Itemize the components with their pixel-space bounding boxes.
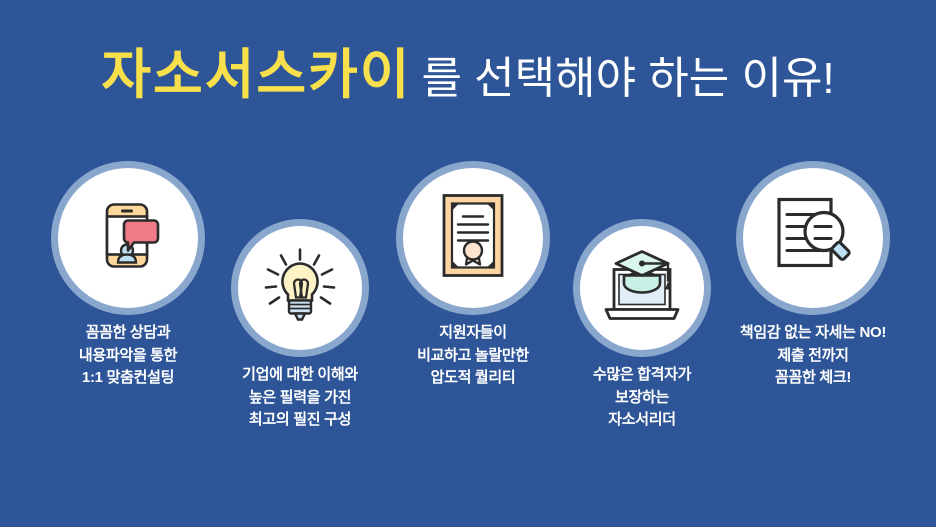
caption-line: 꼼꼼한 체크!	[723, 367, 903, 390]
feature-icon-bubble	[238, 226, 362, 350]
caption-line: 책임감 없는 자세는 NO!	[723, 322, 903, 345]
feature-item-results: 수많은 합격자가 보장하는 자소서리더	[557, 226, 727, 432]
caption-line: 자소서리더	[557, 409, 727, 432]
caption-line: 비교하고 놀랄만한	[388, 345, 558, 368]
caption-line: 내용파악을 통한	[43, 345, 213, 368]
page-title: 자소서스카이를 선택해야 하는 이유!	[0, 48, 936, 102]
feature-caption: 기업에 대한 이해와 높은 필력을 가진 최고의 필진 구성	[215, 364, 385, 432]
caption-line: 최고의 필진 구성	[215, 409, 385, 432]
feature-item-quality: 지원자들이 비교하고 놀랄만한 압도적 퀄리티	[388, 168, 558, 390]
feature-caption: 책임감 없는 자세는 NO! 제출 전까지 꼼꼼한 체크!	[723, 322, 903, 390]
caption-line: 압도적 퀄리티	[388, 367, 558, 390]
caption-line: 꼼꼼한 상담과	[43, 322, 213, 345]
smartphone-chat-icon	[85, 193, 171, 284]
feature-item-writers: 기업에 대한 이해와 높은 필력을 가진 최고의 필진 구성	[215, 226, 385, 432]
caption-line: 지원자들이	[388, 322, 558, 345]
feature-caption: 꼼꼼한 상담과 내용파악을 통한 1:1 맞춤컨설팅	[43, 322, 213, 390]
document-magnifier-icon	[769, 192, 857, 285]
caption-line: 제출 전까지	[723, 345, 903, 368]
caption-line: 보장하는	[557, 387, 727, 410]
feature-icon-bubble	[58, 168, 198, 308]
feature-item-check: 책임감 없는 자세는 NO! 제출 전까지 꼼꼼한 체크!	[723, 168, 903, 390]
promo-poster: 자소서스카이를 선택해야 하는 이유! 꼼꼼한 상담과 내용파악을 통한 1:1…	[0, 0, 936, 527]
feature-icon-bubble	[580, 226, 704, 350]
feature-caption: 지원자들이 비교하고 놀랄만한 압도적 퀄리티	[388, 322, 558, 390]
caption-line: 수많은 합격자가	[557, 364, 727, 387]
caption-line: 1:1 맞춤컨설팅	[43, 367, 213, 390]
feature-icon-bubble	[743, 168, 883, 308]
lightbulb-icon	[260, 246, 340, 331]
feature-item-consulting: 꼼꼼한 상담과 내용파악을 통한 1:1 맞춤컨설팅	[43, 168, 213, 390]
laptop-graduation-cap-icon	[598, 246, 686, 331]
caption-line: 기업에 대한 이해와	[215, 364, 385, 387]
brand-name: 자소서스카이	[101, 45, 411, 105]
feature-caption: 수많은 합격자가 보장하는 자소서리더	[557, 364, 727, 432]
certificate-icon	[432, 191, 514, 286]
caption-line: 높은 필력을 가진	[215, 387, 385, 410]
feature-icon-bubble	[403, 168, 543, 308]
title-tagline: 를 선택해야 하는 이유!	[421, 54, 834, 103]
